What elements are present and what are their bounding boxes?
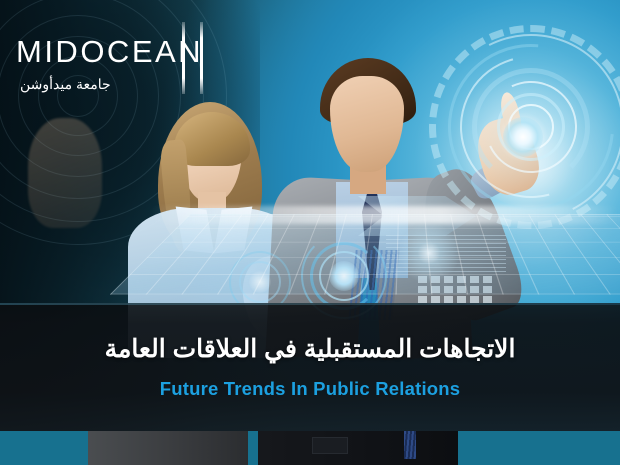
holo-grid-lines [110, 215, 620, 295]
title-band: الاتجاهات المستقبلية في العلاقات العامة … [0, 303, 620, 431]
midocean-logo[interactable]: MIDOCEAN جامعة ميدأوشن [16, 36, 216, 102]
presentation-slide: MIDOCEAN جامعة ميدأوشن الاتجاهات المستقب… [0, 0, 620, 465]
band-top-divider [0, 303, 620, 305]
man-face [330, 76, 404, 172]
holo-panel-sheen [150, 206, 620, 224]
slide-title-english: Future Trends In Public Relations [160, 378, 461, 400]
footer-jacket-pocket [312, 437, 348, 454]
footer-man-lower-body [258, 431, 458, 465]
footer-tie [404, 431, 416, 459]
midocean-vertical-bars-icon [178, 22, 212, 94]
ghost-hand-decoration [28, 118, 102, 228]
concentric-ring-hud-icon [428, 24, 620, 230]
holo-grid-panel-icon [110, 214, 620, 295]
slide-title-arabic: الاتجاهات المستقبلية في العلاقات العامة [105, 334, 516, 364]
logo-arabic-name: جامعة ميدأوشن [20, 76, 111, 93]
footer-left-shadow [0, 431, 92, 465]
footer-woman-lower-body [88, 431, 248, 465]
logo-wordmark: MIDOCEAN [16, 36, 203, 67]
